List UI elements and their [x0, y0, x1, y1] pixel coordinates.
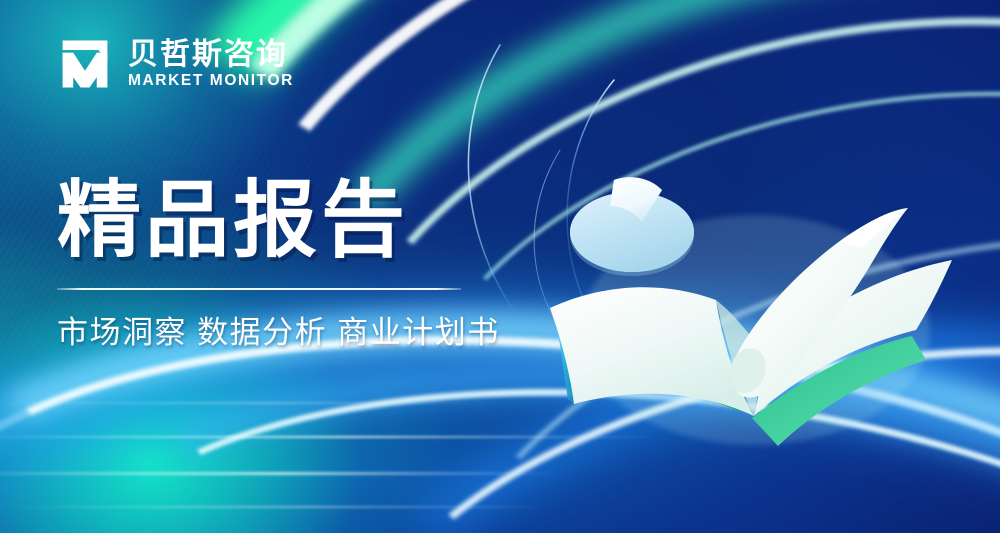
market-monitor-m-logo-icon — [57, 36, 113, 92]
brand-logo-text: 贝哲斯咨询 MARKET MONITOR — [128, 39, 294, 90]
headline-block: 精品报告 市场洞察 数据分析 商业计划书 — [57, 178, 487, 350]
headline-subtitle: 市场洞察 数据分析 商业计划书 — [57, 316, 487, 350]
page-title: 精品报告 — [57, 178, 487, 262]
open-book-with-pie-chart-illustration — [540, 150, 970, 450]
brand-name-cn: 贝哲斯咨询 — [128, 39, 294, 71]
report-banner: 贝哲斯咨询 MARKET MONITOR 精品报告 市场洞察 数据分析 商业计划… — [0, 0, 1000, 533]
headline-divider — [57, 288, 461, 290]
brand-name-en: MARKET MONITOR — [128, 73, 294, 89]
brand-logo: 贝哲斯咨询 MARKET MONITOR — [57, 36, 294, 92]
